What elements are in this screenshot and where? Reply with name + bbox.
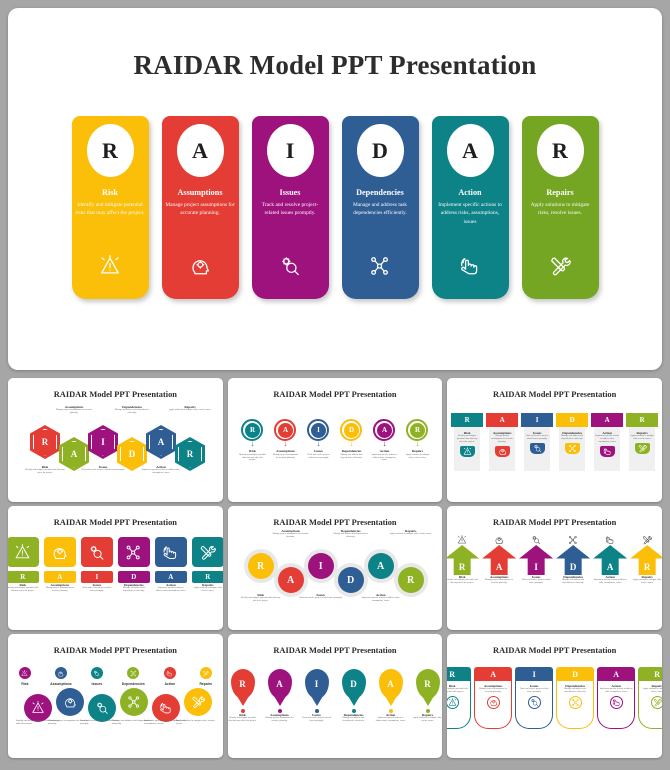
flag-letter: A	[486, 413, 518, 427]
tab-letter: A	[597, 667, 635, 681]
hero-card-letter: D	[357, 124, 404, 177]
square-item[interactable]: RRepairsApply solutions to mitigate risk…	[192, 537, 223, 593]
warning-triangle-icon	[460, 446, 475, 457]
magnifier-gear-icon	[279, 255, 301, 277]
flag-letter: R	[451, 413, 483, 427]
magnifier-gear-icon	[81, 537, 113, 567]
list-item: IssuesTrack and resolve project-related …	[81, 583, 113, 593]
square-letter: R	[192, 571, 223, 583]
list-item: ActionImplement specific actions to addr…	[370, 449, 398, 462]
thumbnail-hexagon-layout[interactable]: RAIDAR Model PPT PresentationRRiskIdenti…	[8, 378, 223, 502]
hand-tap-icon	[605, 535, 615, 545]
up-arrow-letter: R	[447, 545, 479, 575]
hero-card-description: Manage and address task dependencies eff…	[345, 201, 415, 218]
item-description: Apply solutions to mitigate risks, resol…	[640, 688, 662, 694]
thumbnail-title: RAIDAR Model PPT Presentation	[447, 506, 662, 527]
hero-card-letter: R	[87, 124, 134, 177]
item-description: Apply solutions to mitigate risks, resol…	[403, 454, 431, 460]
arrow-item[interactable]: DDependenciesManage and address task dep…	[556, 535, 590, 585]
list-item: AssumptionsManage project assumptions fo…	[482, 575, 516, 585]
warning-triangle-icon	[447, 696, 458, 709]
arrow-item[interactable]: AAssumptionsManage project assumptions f…	[482, 535, 516, 585]
list-item: ActionImplement specific actions to addr…	[376, 713, 406, 723]
flag-body: AssumptionsManage project assumptions fo…	[489, 427, 515, 471]
thumbnail-body: RRiskIdentify and mitigate potential ris…	[447, 413, 662, 502]
tab-letter: R	[447, 667, 471, 681]
item-description: Track and resolve project-related issues…	[81, 587, 113, 593]
hero-card-name: Risk	[102, 188, 118, 197]
ring-outline: R	[406, 419, 428, 441]
warning-triangle-icon	[19, 667, 31, 679]
list-item: RepairsApply solutions to mitigate risks…	[640, 684, 662, 694]
hero-card-name: Repairs	[546, 188, 573, 197]
thumbnail-flag-card-layout[interactable]: RAIDAR Model PPT PresentationRRiskIdenti…	[447, 378, 662, 502]
flag-card[interactable]: IIssuesTrack and resolve project-related…	[521, 413, 553, 471]
network-nodes-icon[interactable]	[120, 688, 148, 716]
page-title: RAIDAR Model PPT Presentation	[8, 8, 662, 81]
hero-card-issues[interactable]: IIssuesTrack and resolve project-related…	[252, 116, 329, 299]
item-description: Manage and address task dependencies eff…	[118, 587, 150, 593]
item-description: Apply solutions to mitigate risks, resol…	[168, 409, 212, 412]
wrench-screwdriver-icon[interactable]	[184, 688, 212, 716]
head-gear-icon[interactable]	[56, 688, 84, 716]
wrench-screwdriver-icon	[642, 535, 652, 545]
arrow-item[interactable]: RRepairsApply solutions to mitigate risk…	[630, 535, 662, 585]
dot-item[interactable]: Action	[159, 667, 181, 686]
pin-marker: R	[231, 669, 255, 699]
thumbnail-body: RiskAssumptionsIssuesDependenciesActionR…	[8, 667, 223, 758]
pin-item[interactable]: DDependenciesManage and address task dep…	[339, 669, 369, 723]
list-item: AssumptionsManage project assumptions fo…	[265, 713, 295, 723]
thumbnail-arrow-circle-layout[interactable]: RAIDAR Model PPT PresentationR↓A↓I↓D↓A↓R…	[228, 378, 443, 502]
magnifier-gear-icon	[530, 443, 545, 454]
slide-browser-page: RAIDAR Model PPT Presentation RRiskIdent…	[0, 0, 670, 770]
pin-marker: R	[416, 669, 440, 699]
item-description: Manage and address task dependencies eff…	[337, 454, 365, 460]
list-item: DependenciesManage and address task depe…	[558, 684, 592, 694]
item-description: Manage project assumptions for accurate …	[265, 717, 295, 723]
flag-card[interactable]: AAssumptionsManage project assumptions f…	[486, 413, 518, 471]
thumbnail-body: RRiskIdentify and mitigate potential ris…	[447, 535, 662, 627]
thumbnail-title: RAIDAR Model PPT Presentation	[228, 634, 443, 655]
wrench-screwdriver-icon	[192, 537, 223, 567]
list-item: AssumptionsManage project assumptions fo…	[269, 529, 313, 539]
list-item: DependenciesManage and address task depe…	[556, 575, 590, 585]
ring-item[interactable]: A↓	[271, 419, 299, 447]
hand-tap-icon	[164, 667, 176, 679]
network-nodes-icon	[369, 255, 391, 277]
flag-letter: A	[591, 413, 623, 427]
thumbnail-body: RRiskIdentify and mitigate potential ris…	[228, 669, 443, 758]
list-item: AssumptionsManage project assumptions fo…	[52, 405, 96, 415]
ring-item[interactable]: R↓	[238, 419, 266, 447]
hero-card-dependencies[interactable]: DDependenciesManage and address task dep…	[342, 116, 419, 299]
pin-item[interactable]: AActionImplement specific actions to add…	[376, 669, 406, 723]
hero-card-name: Action	[458, 188, 481, 197]
flag-body: RepairsApply solutions to mitigate risks…	[629, 427, 655, 471]
thumbnail-tab-card-layout[interactable]: RAIDAR Model PPT PresentationRRiskIdenti…	[447, 634, 662, 758]
hero-card-risk[interactable]: RRiskIdentify and mitigate potential ris…	[72, 116, 149, 299]
ring-item[interactable]: D↓	[337, 419, 365, 447]
list-item: RepairsApply solutions to mitigate risks…	[413, 713, 443, 723]
item-description: Manage and address task dependencies eff…	[329, 533, 373, 539]
hexagon-letter: I	[91, 429, 115, 456]
list-item: IssuesTrack and resolve project-related …	[525, 431, 549, 441]
hero-card-description: Apply solutions to mitigate risks, resol…	[525, 201, 595, 218]
item-description: Implement specific actions to address ri…	[593, 579, 627, 585]
magnifier-gear-icon	[91, 667, 103, 679]
wrench-screwdriver-icon	[549, 255, 571, 277]
pin-item[interactable]: IIssuesTrack and resolve project-related…	[302, 669, 332, 723]
ring-outline: A	[274, 419, 296, 441]
item-description: Track and resolve project-related issues…	[525, 435, 549, 441]
item-description: Manage project assumptions for accurate …	[271, 454, 299, 460]
hexagon-item[interactable]: R	[30, 425, 60, 459]
item-description: Implement specific actions to address ri…	[139, 469, 183, 475]
hero-card-letter: A	[447, 124, 494, 177]
item-description: Manage and address task dependencies eff…	[558, 688, 592, 694]
list-item: RiskIdentify and mitigate potential risk…	[447, 684, 469, 694]
ring-outline: D	[340, 419, 362, 441]
thumbnail-body: RRiskIdentify and mitigate potential ris…	[8, 537, 223, 629]
tab-body: AssumptionsManage project assumptions fo…	[474, 681, 512, 729]
item-description: Track and resolve project-related issues…	[299, 597, 343, 600]
pin-marker: I	[305, 669, 329, 699]
magnifier-gear-icon	[528, 696, 541, 709]
ring-letter: A	[278, 423, 293, 438]
ring-outline: A	[373, 419, 395, 441]
item-description: Identify and mitigate potential risks th…	[447, 579, 479, 585]
tab-body: IssuesTrack and resolve project-related …	[515, 681, 553, 729]
up-arrow-letter: I	[519, 545, 553, 575]
flag-body: RiskIdentify and mitigate potential risk…	[454, 427, 480, 471]
tab-letter: I	[515, 667, 553, 681]
list-item: AssumptionsManage project assumptions fo…	[44, 583, 76, 593]
up-arrow-letter: D	[556, 545, 590, 575]
up-arrow-letter: A	[482, 545, 516, 575]
list-item: IssuesTrack and resolve project-related …	[304, 449, 332, 459]
hexagon-letter: D	[120, 441, 144, 468]
item-description: Implement specific actions to address ri…	[595, 435, 619, 444]
hero-card-letter: I	[267, 124, 314, 177]
pin-item[interactable]: RRepairsApply solutions to mitigate risk…	[413, 669, 443, 723]
list-item: RiskIdentify and mitigate potential risk…	[228, 713, 258, 723]
square-item[interactable]: AAssumptionsManage project assumptions f…	[44, 537, 76, 593]
tab-card[interactable]: RRiskIdentify and mitigate potential ris…	[447, 667, 471, 729]
thumbnail-grid: RAIDAR Model PPT PresentationRRiskIdenti…	[8, 378, 662, 758]
list-item: AssumptionsManage project assumptions fo…	[271, 449, 299, 459]
head-gear-icon	[494, 535, 504, 545]
list-item: DependenciesManage and address task depe…	[337, 449, 365, 459]
hero-card-description: Implement specific actions to address ri…	[435, 201, 505, 226]
list-item: ActionImplement specific actions to addr…	[359, 593, 403, 603]
list-item: ActionImplement specific actions to addr…	[155, 583, 187, 593]
item-description: Track and resolve project-related issues…	[81, 469, 125, 472]
item-description: Apply solutions to mitigate risks, resol…	[413, 717, 443, 723]
item-description: Apply solutions to mitigate risks, resol…	[192, 587, 223, 593]
item-description: Manage project assumptions for accurate …	[52, 409, 96, 415]
list-item: DependenciesManage and address task depe…	[118, 583, 150, 593]
square-item[interactable]: RRiskIdentify and mitigate potential ris…	[8, 537, 39, 593]
thumbnail-chain-circle-layout[interactable]: RAIDAR Model PPT PresentationRRiskIdenti…	[228, 506, 443, 630]
pin-marker: A	[268, 669, 292, 699]
dot-item[interactable]: Dependencies	[122, 667, 145, 686]
thumbnail-title: RAIDAR Model PPT Presentation	[8, 634, 223, 655]
list-item: RiskIdentify and mitigate potential risk…	[447, 575, 479, 585]
dot-item[interactable]: Repairs	[195, 667, 217, 686]
item-description: Identify and mitigate potential risks th…	[228, 717, 258, 723]
pin-marker: A	[379, 669, 403, 699]
flag-card[interactable]: RRepairsApply solutions to mitigate risk…	[626, 413, 658, 471]
item-description: Track and resolve project-related issues…	[302, 717, 332, 723]
square-item[interactable]: AActionImplement specific actions to add…	[155, 537, 187, 593]
pin-item[interactable]: AAssumptionsManage project assumptions f…	[265, 669, 295, 723]
hero-card-assumptions[interactable]: AAssumptionsManage project assumptions f…	[162, 116, 239, 299]
ring-item[interactable]: A↓	[370, 419, 398, 447]
thumbnail-pin-marker-layout[interactable]: RAIDAR Model PPT PresentationRRiskIdenti…	[228, 634, 443, 758]
thumbnail-title: RAIDAR Model PPT Presentation	[228, 506, 443, 527]
arrow-item[interactable]: AActionImplement specific actions to add…	[593, 535, 627, 585]
list-item: IssuesTrack and resolve project-related …	[81, 465, 125, 472]
list-item: RepairsApply solutions to mitigate risks…	[630, 575, 662, 585]
down-arrow-icon: ↓	[316, 441, 320, 447]
up-arrow-letter: A	[593, 545, 627, 575]
item-description: Implement specific actions to address ri…	[359, 597, 403, 603]
item-description: Manage and address task dependencies eff…	[560, 435, 584, 441]
square-letter: A	[155, 571, 187, 583]
item-description: Apply solutions to mitigate risks, resol…	[630, 579, 662, 585]
hero-slide[interactable]: RAIDAR Model PPT Presentation RRiskIdent…	[8, 8, 662, 370]
head-gear-icon	[44, 537, 76, 567]
warning-triangle-icon	[8, 537, 39, 567]
tab-card[interactable]: AAssumptionsManage project assumptions f…	[474, 667, 512, 729]
ring-outline: R	[241, 419, 263, 441]
item-description: Implement specific actions to address ri…	[376, 717, 406, 723]
network-nodes-icon	[118, 537, 150, 567]
flag-card[interactable]: DDependenciesManage and address task dep…	[556, 413, 588, 471]
wrench-screwdriver-icon	[200, 667, 212, 679]
list-item: RiskIdentify and mitigate potential risk…	[238, 449, 266, 462]
wrench-screwdriver-icon	[635, 443, 650, 454]
item-description: Manage and address task dependencies eff…	[110, 409, 154, 415]
hexagon-letter: A	[149, 429, 173, 456]
thumbnail-body: RRiskIdentify and mitigate potential ris…	[447, 667, 662, 758]
warning-triangle-icon	[457, 535, 467, 545]
warning-triangle-icon	[99, 255, 121, 277]
list-item: DependenciesManage and address task depe…	[339, 713, 369, 723]
hero-card-description: Track and resolve project-related issues…	[255, 201, 325, 218]
item-description: Manage project assumptions for accurate …	[490, 435, 514, 444]
item-description: Implement specific actions to address ri…	[599, 688, 633, 694]
hero-card-name: Issues	[280, 188, 301, 197]
tab-card[interactable]: DDependenciesManage and address task dep…	[556, 667, 594, 729]
ring-letter: A	[377, 423, 392, 438]
magnifier-gear-icon[interactable]	[88, 694, 116, 722]
hexagon-letter: A	[62, 441, 86, 468]
flag-card[interactable]: RRiskIdentify and mitigate potential ris…	[451, 413, 483, 471]
hero-card-name: Dependencies	[356, 188, 404, 197]
thumbnail-square-icon-layout[interactable]: RAIDAR Model PPT PresentationRRiskIdenti…	[8, 506, 223, 630]
ring-letter: R	[245, 423, 260, 438]
hand-tap-icon	[600, 446, 615, 457]
hand-tap-icon	[155, 537, 187, 567]
item-description: Track and resolve project-related issues…	[519, 579, 553, 585]
hero-card-description: Manage project assumptions for accurate …	[165, 201, 235, 218]
list-item: RepairsApply solutions to mitigate risks…	[630, 431, 654, 441]
square-item[interactable]: DDependenciesManage and address task dep…	[118, 537, 150, 593]
list-item: RiskIdentify and mitigate potential risk…	[8, 583, 39, 593]
square-letter: I	[81, 571, 113, 583]
hero-card-name: Assumptions	[177, 188, 222, 197]
item-description: Identify and mitigate potential risks th…	[238, 454, 266, 463]
ring-outline: I	[307, 419, 329, 441]
ring-item[interactable]: R↓	[403, 419, 431, 447]
item-description: Manage and address task dependencies eff…	[556, 579, 590, 585]
item-description: Apply solutions to mitigate risks, resol…	[630, 435, 654, 441]
flag-body: DependenciesManage and address task depe…	[559, 427, 585, 471]
chain-circle[interactable]: D	[338, 567, 364, 593]
flag-body: ActionImplement specific actions to addr…	[594, 427, 620, 471]
chain-circle[interactable]: I	[308, 553, 334, 579]
head-gear-icon	[487, 696, 500, 709]
hero-card-repairs[interactable]: RRepairsApply solutions to mitigate risk…	[522, 116, 599, 299]
network-nodes-icon	[569, 696, 582, 709]
thumbnail-dot-chain-layout[interactable]: RAIDAR Model PPT PresentationRiskAssumpt…	[8, 634, 223, 758]
list-item: RepairsApply solutions to mitigate risks…	[192, 583, 223, 593]
tab-card[interactable]: RRepairsApply solutions to mitigate risk…	[638, 667, 662, 729]
square-letter: A	[44, 571, 76, 583]
square-item[interactable]: IIssuesTrack and resolve project-related…	[81, 537, 113, 593]
tab-body: RiskIdentify and mitigate potential risk…	[447, 681, 471, 729]
tab-body: ActionImplement specific actions to addr…	[597, 681, 635, 729]
down-arrow-icon: ↓	[415, 441, 419, 447]
list-item: AssumptionsManage project assumptions fo…	[476, 684, 510, 694]
thumbnail-body: RRiskIdentify and mitigate potential ris…	[228, 527, 443, 619]
list-item: RepairsApply solutions to mitigate risks…	[403, 449, 431, 459]
ring-item[interactable]: I↓	[304, 419, 332, 447]
thumbnail-body: RRiskIdentify and mitigate potential ris…	[8, 399, 223, 491]
square-letter: D	[118, 571, 150, 583]
pin-item[interactable]: RRiskIdentify and mitigate potential ris…	[228, 669, 258, 723]
thumbnail-up-arrow-layout[interactable]: RAIDAR Model PPT PresentationRRiskIdenti…	[447, 506, 662, 630]
item-description: Manage project assumptions for accurate …	[44, 587, 76, 593]
hand-tap-icon[interactable]	[152, 694, 180, 722]
ring-letter: D	[344, 423, 359, 438]
item-description: Manage project assumptions for accurate …	[269, 533, 313, 539]
wrench-screwdriver-icon	[651, 696, 662, 709]
tab-card[interactable]: IIssuesTrack and resolve project-related…	[515, 667, 553, 729]
network-nodes-icon	[565, 443, 580, 454]
magnifier-gear-icon	[531, 535, 541, 545]
list-item: RiskIdentify and mitigate potential risk…	[239, 593, 283, 603]
item-description: Track and resolve project-related issues…	[517, 688, 551, 694]
item-description: Identify and mitigate potential risks th…	[239, 597, 283, 603]
list-item: IssuesTrack and resolve project-related …	[302, 713, 332, 723]
dot-item[interactable]: Risk	[14, 667, 36, 686]
item-description: Manage project assumptions for accurate …	[482, 579, 516, 585]
list-item: AssumptionsManage project assumptions fo…	[490, 431, 514, 444]
hexagon-letter: R	[33, 429, 57, 456]
list-item: RiskIdentify and mitigate potential risk…	[455, 431, 479, 444]
hexagon-item[interactable]: A	[146, 425, 176, 459]
tab-letter: A	[474, 667, 512, 681]
down-arrow-icon: ↓	[349, 441, 353, 447]
hand-tap-icon	[610, 696, 623, 709]
item-description: Identify and mitigate potential risks th…	[8, 587, 39, 593]
hexagon-item[interactable]: I	[88, 425, 118, 459]
list-item: DependenciesManage and address task depe…	[110, 405, 154, 415]
thumbnail-title: RAIDAR Model PPT Presentation	[8, 378, 223, 399]
chain-circle[interactable]: R	[248, 553, 274, 579]
chain-circle[interactable]: R	[398, 567, 424, 593]
thumbnail-title: RAIDAR Model PPT Presentation	[228, 378, 443, 399]
up-arrow-letter: R	[630, 545, 662, 575]
dot-item[interactable]: Assumptions	[50, 667, 72, 686]
warning-triangle-icon[interactable]	[24, 694, 52, 722]
head-gear-icon	[495, 446, 510, 457]
flag-card[interactable]: AActionImplement specific actions to add…	[591, 413, 623, 471]
hero-card-action[interactable]: AActionImplement specific actions to add…	[432, 116, 509, 299]
thumbnail-title: RAIDAR Model PPT Presentation	[447, 378, 662, 399]
down-arrow-icon: ↓	[382, 441, 386, 447]
tab-body: DependenciesManage and address task depe…	[556, 681, 594, 729]
down-arrow-icon: ↓	[250, 441, 254, 447]
hero-card-letter: A	[177, 124, 224, 177]
ring-letter: I	[311, 423, 326, 438]
item-description: Identify and mitigate potential risks th…	[455, 435, 479, 444]
hero-card-letter: R	[537, 124, 584, 177]
list-item: ActionImplement specific actions to addr…	[593, 575, 627, 585]
chain-circle[interactable]: A	[368, 553, 394, 579]
flag-letter: I	[521, 413, 553, 427]
thumbnail-title: RAIDAR Model PPT Presentation	[447, 634, 662, 655]
list-item: IssuesTrack and resolve project-related …	[517, 684, 551, 694]
arrow-item[interactable]: IIssuesTrack and resolve project-related…	[519, 535, 553, 585]
thumbnail-title: RAIDAR Model PPT Presentation	[8, 506, 223, 527]
ring-letter: R	[410, 423, 425, 438]
list-item: RiskIdentify and mitigate potential risk…	[23, 465, 67, 475]
list-item: DependenciesManage and address task depe…	[560, 431, 584, 441]
item-description: Apply solutions to mitigate risks, resol…	[389, 533, 433, 536]
list-item: ActionImplement specific actions to addr…	[139, 465, 183, 475]
flag-letter: R	[626, 413, 658, 427]
list-item: ActionImplement specific actions to addr…	[595, 431, 619, 444]
chain-circle[interactable]: A	[278, 567, 304, 593]
item-description: Manage project assumptions for accurate …	[476, 688, 510, 694]
head-gear-icon	[55, 667, 67, 679]
list-item: IssuesTrack and resolve project-related …	[299, 593, 343, 600]
item-description: Track and resolve project-related issues…	[304, 454, 332, 460]
head-gear-icon	[189, 255, 211, 277]
tab-card[interactable]: AActionImplement specific actions to add…	[597, 667, 635, 729]
list-item: ActionImplement specific actions to addr…	[599, 684, 633, 694]
network-nodes-icon	[568, 535, 578, 545]
item-description: Identify and mitigate potential risks th…	[23, 469, 67, 475]
arrow-item[interactable]: RRiskIdentify and mitigate potential ris…	[447, 535, 479, 585]
item-description: Implement specific actions to address ri…	[155, 587, 187, 593]
thumbnail-body: R↓A↓I↓D↓A↓R↓RiskIdentify and mitigate po…	[228, 419, 443, 502]
flag-letter: D	[556, 413, 588, 427]
hero-card-description: Identify and mitigate potential risks th…	[75, 201, 145, 218]
hero-card-row: RRiskIdentify and mitigate potential ris…	[8, 116, 662, 299]
dot-item[interactable]: Issues	[86, 667, 108, 686]
hexagon-letter: R	[178, 441, 202, 468]
tab-body: RepairsApply solutions to mitigate risks…	[638, 681, 662, 729]
down-arrow-icon: ↓	[283, 441, 287, 447]
hand-tap-icon	[459, 255, 481, 277]
square-letter: R	[8, 571, 39, 583]
item-description: Implement specific actions to address ri…	[370, 454, 398, 463]
